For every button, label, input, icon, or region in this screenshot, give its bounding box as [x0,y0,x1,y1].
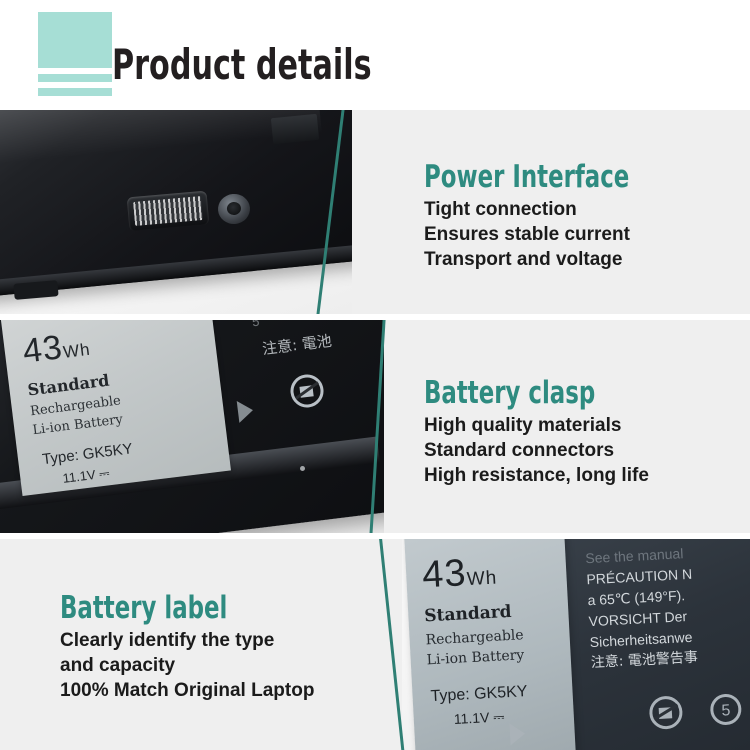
battery-spec-label: 43Wh Standard Rechargeable Li-ion Batter… [0,320,231,496]
label-voltage: 11.1V ⎓ [62,465,111,487]
panel-divider-3 [392,539,438,750]
battery-tab [271,114,319,144]
panel-line-2: Standard connectors [424,438,649,463]
label-rechargeable: Rechargeable [425,627,524,648]
safety-warning-text: See the manual PRÉCAUTION N a 65℃ (149°F… [585,539,750,674]
panel-divider-1 [327,110,373,314]
panel-power-interface: Power Interface Tight connection Ensures… [0,110,750,314]
panel-line-1: Tight connection [424,197,674,222]
connector-pins-icon [127,191,210,232]
battery-foot [13,280,58,300]
compliance-symbols: 5 [645,688,748,738]
panel-line-2: and capacity [60,653,314,678]
photo-battery-connector [0,110,352,314]
battery-pinhole [300,466,305,471]
page-header: Product details [0,0,750,110]
screw-hole-icon [217,193,251,226]
panel-heading: Battery label [60,591,269,625]
text-block-battery-clasp: Battery clasp High quality materials Sta… [384,320,750,533]
label-type: Type: GK5KY [430,683,528,706]
panel-divider-2 [375,320,421,533]
text-block-power-interface: Power Interface Tight connection Ensures… [352,110,750,314]
label-chemistry: Li-ion Battery [426,647,524,668]
label-type: Type: GK5KY [41,440,133,468]
crossed-out-wheelie-bin-icon [645,692,687,739]
panel-line-1: Clearly identify the type [60,628,314,653]
recycle-5-icon: 5 [705,688,747,735]
photo-battery-label-closeup: 43Wh Standard Rechargeable Li-ion Batter… [402,539,750,750]
decoration-bar-2 [38,88,112,96]
arrow-marker-icon [237,399,255,423]
panel-line-3: High resistance, long life [424,463,649,488]
panel-line-2: Ensures stable current [424,222,674,247]
arrow-marker-icon [509,723,525,746]
crossed-out-wheelie-bin-icon [286,370,328,412]
label-capacity: 43Wh [21,325,93,372]
label-faint-note: 5 [251,320,260,329]
panel-heading: Power Interface [424,160,629,194]
header-decoration-icon [38,12,112,96]
decoration-bar-1 [38,74,112,82]
page-title: Product details [112,44,372,86]
panel-battery-label: Battery label Clearly identify the type … [0,539,750,750]
decoration-square [38,12,112,68]
label-voltage: 11.1V ⎓ [453,708,504,728]
panel-line-3: 100% Match Original Laptop [60,678,314,703]
photo-battery-label-angled: 43Wh Standard Rechargeable Li-ion Batter… [0,320,384,533]
panel-line-1: High quality materials [424,413,649,438]
text-block-battery-label: Battery label Clearly identify the type … [0,539,400,750]
product-details-infographic: Product details Power Interface Tight co… [0,0,750,750]
panel-battery-clasp: 43Wh Standard Rechargeable Li-ion Batter… [0,320,750,533]
svg-text:5: 5 [721,702,731,719]
panel-heading: Battery clasp [424,376,608,410]
panel-line-3: Transport and voltage [424,247,674,272]
